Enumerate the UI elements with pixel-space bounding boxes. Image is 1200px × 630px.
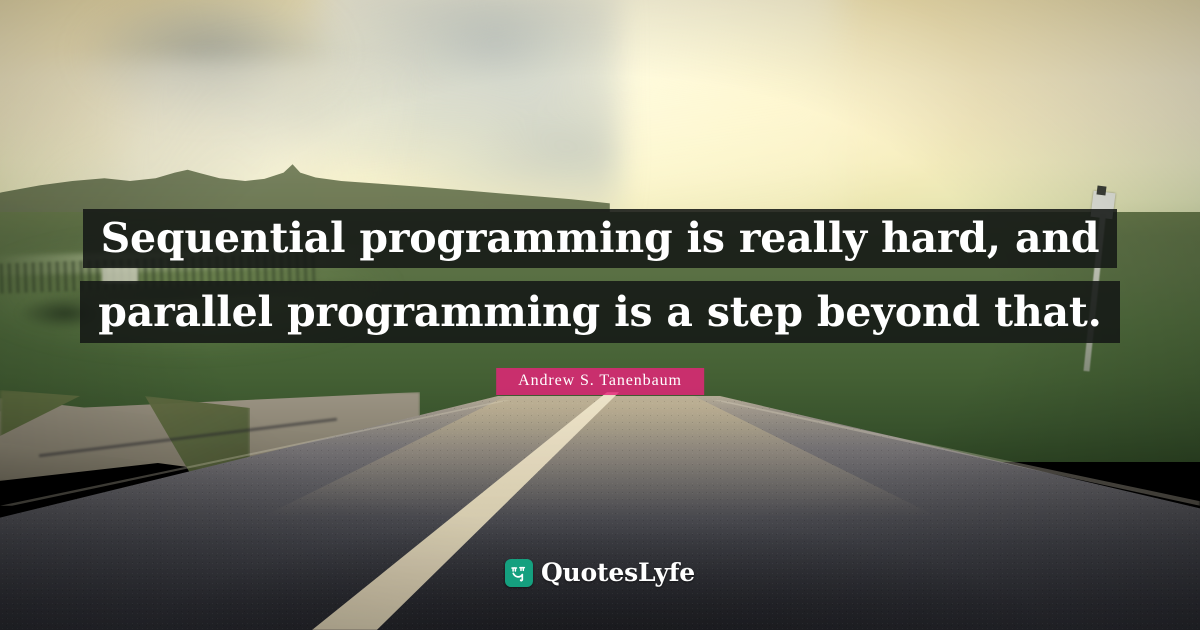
quote-line-1: Sequential programming is really hard, a… (83, 209, 1118, 268)
quoteslyfe-logo[interactable]: QuotesLyfe (505, 558, 695, 587)
quote-smiley-icon (505, 559, 533, 587)
quote-line-2: parallel programming is a step beyond th… (80, 281, 1119, 343)
author-badge: Andrew S. Tanenbaum (496, 368, 704, 395)
brand-name: QuotesLyfe (541, 558, 695, 587)
quote-block: Sequential programming is really hard, a… (0, 209, 1200, 343)
quote-card: Sequential programming is really hard, a… (0, 0, 1200, 630)
